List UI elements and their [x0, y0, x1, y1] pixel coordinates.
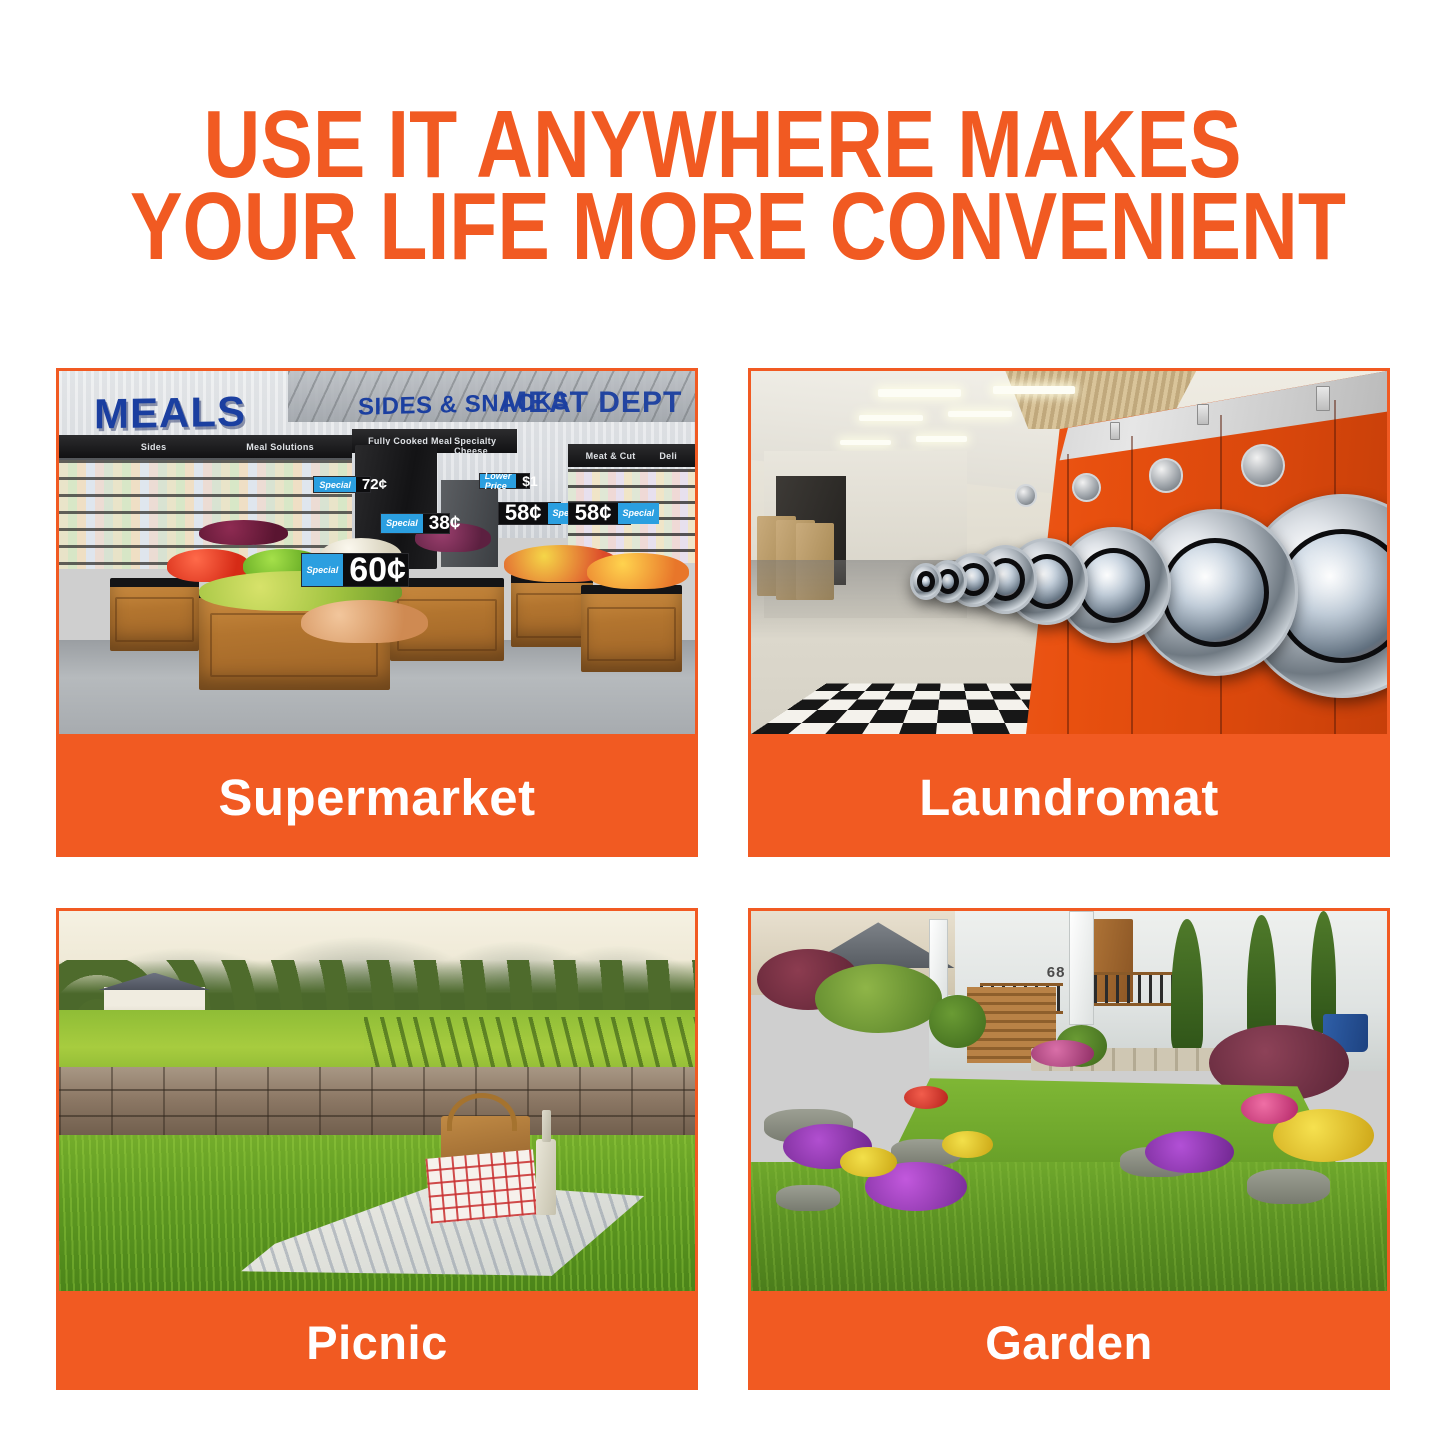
price-tag-value: 38¢ [423, 514, 467, 533]
price-tag-value: $1 [516, 474, 544, 488]
price-tag: Special 72¢ [313, 476, 370, 493]
laundromat-scene [751, 371, 1387, 734]
produce-onions [301, 600, 428, 644]
ceiling-light [948, 411, 1012, 418]
garden-rock [776, 1185, 840, 1212]
shelf-label-meal-solutions: Meal Solutions [246, 442, 314, 452]
washer-dial [1241, 444, 1286, 488]
pink-flowers [1241, 1093, 1298, 1123]
price-tag-value: 60¢ [343, 553, 412, 587]
washer-dial [1149, 458, 1184, 492]
produce-peppers [199, 520, 288, 545]
produce-mangoes [587, 553, 689, 589]
washer-dial [1015, 484, 1037, 508]
ceiling-light [916, 436, 967, 441]
price-tag-label: Special [381, 514, 423, 534]
washer-dial [1072, 473, 1101, 502]
coin-slot [1197, 404, 1208, 426]
page-title: USE IT ANYWHERE MAKES YOUR LIFE MORE CON… [130, 104, 1315, 268]
house-number: 68 [1047, 964, 1066, 981]
aisle-banner-right: Meat & Cut Deli [568, 444, 695, 468]
pink-flowers [1031, 1040, 1095, 1067]
caption-bar-supermarket: Supermarket [56, 737, 698, 857]
use-case-card-laundromat[interactable]: Laundromat [748, 368, 1390, 857]
caption-bar-picnic: Picnic [56, 1294, 698, 1390]
price-tag-value: 72¢ [356, 477, 393, 492]
supermarket-photo: MEALS SIDES & SNACKS MEAT DEPT Sides Mea… [56, 368, 698, 737]
caption-bar-laundromat: Laundromat [748, 737, 1390, 857]
yellow-flowers [942, 1131, 993, 1158]
meals-sign: MEALS [94, 388, 246, 439]
coin-slot [1316, 386, 1330, 411]
price-tag-label: Special [618, 503, 660, 525]
caption-bar-garden: Garden [748, 1294, 1390, 1390]
price-tag-value: 58¢ [569, 502, 618, 524]
shelf-label-deli: Deli [659, 451, 677, 461]
porch-column [1069, 911, 1094, 1025]
washer-door [910, 563, 942, 599]
price-tag-label: Special [302, 554, 344, 586]
caption-label-picnic: Picnic [306, 1319, 447, 1366]
meat-dept-sign: MEAT DEPT [502, 386, 682, 420]
use-case-card-supermarket[interactable]: MEALS SIDES & SNACKS MEAT DEPT Sides Mea… [56, 368, 698, 857]
shrub [929, 995, 986, 1048]
caption-label-laundromat: Laundromat [919, 772, 1219, 823]
use-case-card-picnic[interactable]: Picnic [56, 908, 698, 1390]
ceiling-light [840, 440, 891, 445]
price-tag-label: Lower Price [480, 474, 517, 488]
produce-bin [581, 585, 683, 672]
shelf-label-meat-cut: Meat & Cut [586, 451, 636, 461]
produce-bin [110, 578, 199, 651]
caption-label-supermarket: Supermarket [218, 772, 535, 823]
stone-wall [59, 1067, 695, 1143]
picnic-scene [59, 911, 695, 1291]
use-case-grid: MEALS SIDES & SNACKS MEAT DEPT Sides Mea… [56, 368, 1390, 1390]
ceiling-light [878, 389, 961, 397]
picnic-photo [56, 908, 698, 1294]
shelf-label-specialty-cheese: Specialty Cheese [454, 436, 517, 456]
shelf-label-sides: Sides [141, 442, 167, 452]
aisle-banner-left: Sides Meal Solutions [59, 435, 352, 460]
price-tag-label: Special [314, 477, 356, 492]
supermarket-scene: MEALS SIDES & SNACKS MEAT DEPT Sides Mea… [59, 371, 695, 734]
promo-page: USE IT ANYWHERE MAKES YOUR LIFE MORE CON… [0, 0, 1445, 1445]
coin-slot [1110, 422, 1120, 440]
headline-line-2: YOUR LIFE MORE CONVENIENT [130, 186, 1315, 268]
price-tag: Special 60¢ [301, 553, 409, 587]
price-tag-value: 58¢ [499, 502, 548, 524]
laundromat-photo [748, 368, 1390, 737]
price-tag: 58¢ Special [568, 502, 632, 526]
price-tag: Lower Price $1 [479, 473, 530, 489]
use-case-card-garden[interactable]: 68 [748, 908, 1390, 1390]
yellow-flowers [840, 1147, 897, 1177]
price-tag: 58¢ Special [498, 502, 562, 526]
garden-scene: 68 [751, 911, 1387, 1291]
garden-rock [1247, 1169, 1330, 1203]
garden-photo: 68 [748, 908, 1390, 1294]
price-tag: Special 38¢ [380, 513, 450, 535]
red-flowers [904, 1086, 949, 1109]
ceiling-light [859, 415, 923, 422]
wine-bottle [536, 1139, 556, 1215]
shrub [815, 964, 942, 1032]
ceiling-light [993, 386, 1076, 394]
caption-label-garden: Garden [985, 1319, 1153, 1366]
checkered-cloth [425, 1150, 538, 1224]
